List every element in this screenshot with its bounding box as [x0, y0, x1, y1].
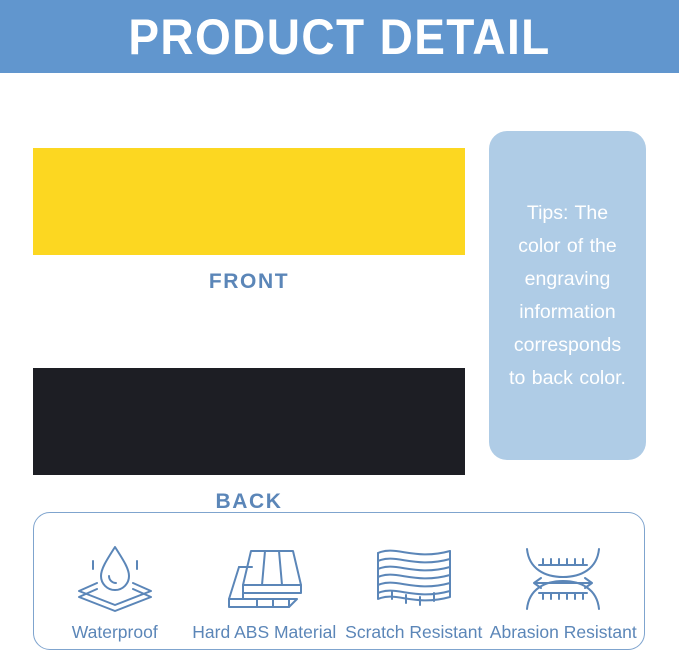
- feature-scratch-resistant: Scratch Resistant: [339, 519, 489, 643]
- feature-hard-abs-material: Hard ABS Material: [190, 519, 340, 643]
- feature-label-hard-abs-material: Hard ABS Material: [192, 621, 336, 643]
- tips-text: Tips: The color of the engraving informa…: [503, 197, 632, 395]
- wavy-striped-surface-icon: [368, 542, 460, 616]
- feature-label-abrasion-resistant: Abrasion Resistant: [490, 621, 637, 643]
- feature-label-scratch-resistant: Scratch Resistant: [345, 621, 482, 643]
- back-color-swatch: [33, 368, 465, 475]
- back-swatch-label: BACK: [33, 475, 465, 515]
- swatch-area: FRONT BACK: [33, 148, 465, 515]
- features-panel: Waterproof: [33, 512, 645, 650]
- tips-callout-box: Tips: The color of the engraving informa…: [489, 131, 646, 460]
- page-title: PRODUCT DETAIL: [128, 12, 550, 62]
- feature-waterproof: Waterproof: [40, 519, 190, 643]
- stacked-boards-icon: [219, 542, 309, 616]
- waterproof-droplet-layers-icon: [73, 542, 157, 616]
- product-detail-infographic: PRODUCT DETAIL FRONT BACK Tips: The colo…: [0, 0, 679, 658]
- front-swatch-label: FRONT: [33, 255, 465, 295]
- header-banner: PRODUCT DETAIL: [0, 0, 679, 73]
- front-color-swatch: [33, 148, 465, 255]
- feature-abrasion-resistant: Abrasion Resistant: [489, 519, 639, 643]
- feature-label-waterproof: Waterproof: [72, 621, 158, 643]
- abrasion-jaws-arrow-icon: [515, 542, 611, 616]
